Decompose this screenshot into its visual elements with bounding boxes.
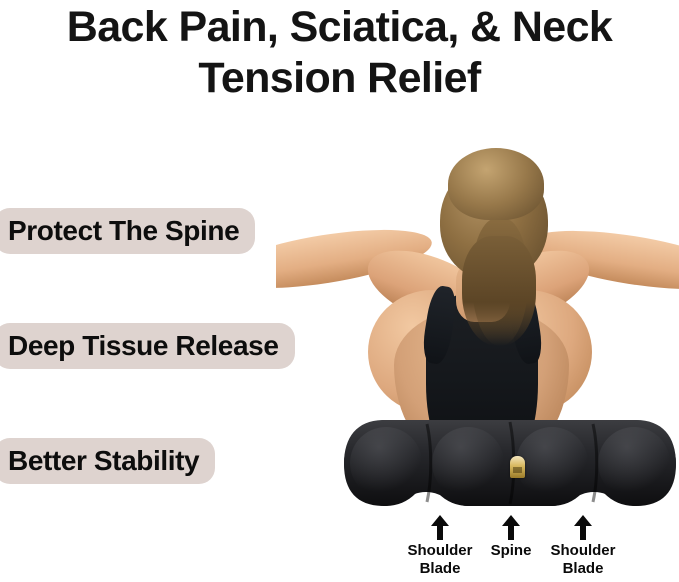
page-title: Back Pain, Sciatica, & Neck Tension Reli… — [0, 2, 679, 103]
hair-strands — [462, 236, 536, 346]
benefit-pill-label: Deep Tissue Release — [8, 330, 279, 362]
brand-badge-icon — [510, 456, 525, 478]
headline-line-1: Back Pain, Sciatica, & Neck — [0, 2, 679, 53]
annotation-label: Shoulder Blade — [535, 542, 631, 579]
foam-roller — [344, 418, 676, 518]
up-arrow-icon — [573, 515, 593, 540]
benefit-pill-deep-tissue-release: Deep Tissue Release — [0, 323, 295, 369]
benefit-pill-better-stability: Better Stability — [0, 438, 215, 484]
benefit-pill-protect-the-spine: Protect The Spine — [0, 208, 255, 254]
headline-line-2: Tension Relief — [0, 53, 679, 104]
up-arrow-icon — [430, 515, 450, 540]
up-arrow-icon — [501, 515, 521, 540]
benefit-pill-label: Better Stability — [8, 445, 199, 477]
annotation-label: Spine — [491, 542, 532, 560]
hair-bun — [448, 148, 544, 220]
benefit-pill-label: Protect The Spine — [8, 215, 239, 247]
annotation-shoulder-blade-right: Shoulder Blade — [535, 515, 631, 579]
product-marketing-image: Back Pain, Sciatica, & Neck Tension Reli… — [0, 0, 679, 582]
